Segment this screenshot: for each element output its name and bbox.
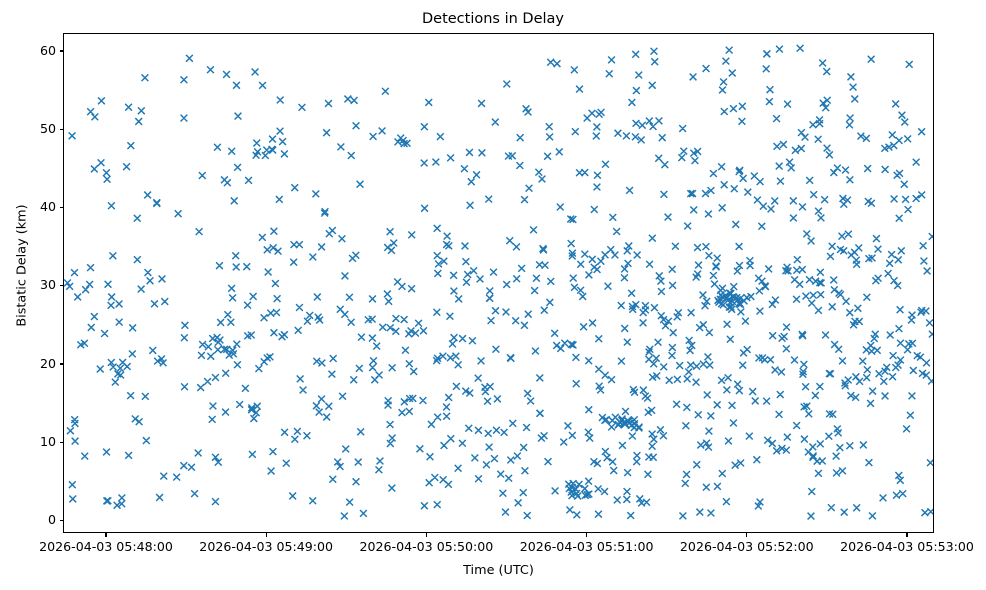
y-tick-mark	[60, 50, 64, 51]
y-tick-label: 30	[4, 279, 56, 292]
x-tick-label: 2026-04-03 05:53:00	[840, 540, 974, 554]
x-tick-label: 2026-04-03 05:49:00	[199, 540, 333, 554]
x-tick-label: 2026-04-03 05:51:00	[520, 540, 654, 554]
y-tick-label: 10	[4, 436, 56, 449]
y-tick-label: 40	[4, 201, 56, 214]
x-tick-mark	[906, 533, 907, 537]
y-axis-label: Bistatic Delay (km)	[15, 146, 30, 386]
x-tick-mark	[426, 533, 427, 537]
plot-area[interactable]	[63, 33, 934, 533]
x-tick-mark	[746, 533, 747, 537]
chart-title: Detections in Delay	[0, 10, 986, 28]
y-tick-mark	[60, 442, 64, 443]
x-tick-label: 2026-04-03 05:52:00	[680, 540, 814, 554]
x-tick-mark	[266, 533, 267, 537]
y-tick-mark	[60, 129, 64, 130]
y-tick-mark	[60, 520, 64, 521]
y-tick-label: 20	[4, 358, 56, 371]
x-axis-label: Time (UTC)	[63, 563, 934, 578]
y-tick-label: 50	[4, 123, 56, 136]
detection-markers	[64, 45, 933, 520]
y-tick-mark	[60, 285, 64, 286]
y-tick-mark	[60, 363, 64, 364]
x-tick-label: 2026-04-03 05:50:00	[360, 540, 494, 554]
x-tick-mark	[586, 533, 587, 537]
x-tick-label: 2026-04-03 05:48:00	[39, 540, 173, 554]
matplotlib-figure: Detections in Delay 0102030405060 2026-0…	[0, 0, 986, 590]
scatter-series-detections	[64, 34, 933, 532]
x-tick-mark	[105, 533, 106, 537]
y-tick-mark	[60, 207, 64, 208]
y-tick-label: 60	[4, 45, 56, 58]
y-tick-label: 0	[4, 514, 56, 527]
